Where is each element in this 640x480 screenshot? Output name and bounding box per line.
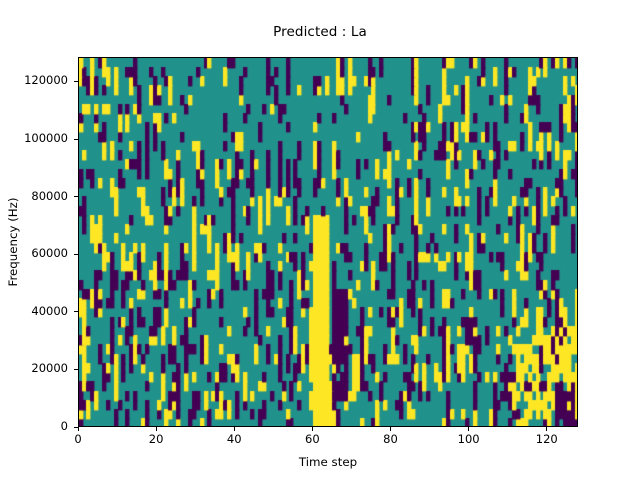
x-tick-label: 20 <box>126 434 186 446</box>
chart-title: Predicted : La <box>0 24 640 40</box>
x-tick-mark <box>468 427 469 431</box>
x-tick-mark <box>312 427 313 431</box>
y-tick-label: 100000 <box>0 133 68 145</box>
y-tick-mark <box>74 139 78 140</box>
y-tick-mark <box>74 311 78 312</box>
y-tick-mark <box>74 369 78 370</box>
x-tick-mark <box>234 427 235 431</box>
x-tick-label: 40 <box>204 434 264 446</box>
y-axis-label: Frequency (Hz) <box>6 162 20 322</box>
x-tick-mark <box>546 427 547 431</box>
y-tick-mark <box>74 81 78 82</box>
x-tick-label: 120 <box>517 434 577 446</box>
figure-canvas: Predicted : La 0200004000060000800001000… <box>0 0 640 480</box>
x-tick-label: 100 <box>439 434 499 446</box>
x-tick-label: 0 <box>48 434 108 446</box>
x-tick-label: 80 <box>361 434 421 446</box>
heatmap-image <box>79 58 578 427</box>
y-tick-mark <box>74 196 78 197</box>
heatmap-axes <box>78 57 578 427</box>
x-tick-label: 60 <box>282 434 342 446</box>
x-tick-mark <box>78 427 79 431</box>
y-tick-label: 20000 <box>0 363 68 375</box>
y-tick-mark <box>74 254 78 255</box>
y-tick-label: 0 <box>0 421 68 433</box>
y-tick-label: 120000 <box>0 75 68 87</box>
x-tick-mark <box>390 427 391 431</box>
x-axis-label: Time step <box>78 455 578 469</box>
x-tick-mark <box>156 427 157 431</box>
